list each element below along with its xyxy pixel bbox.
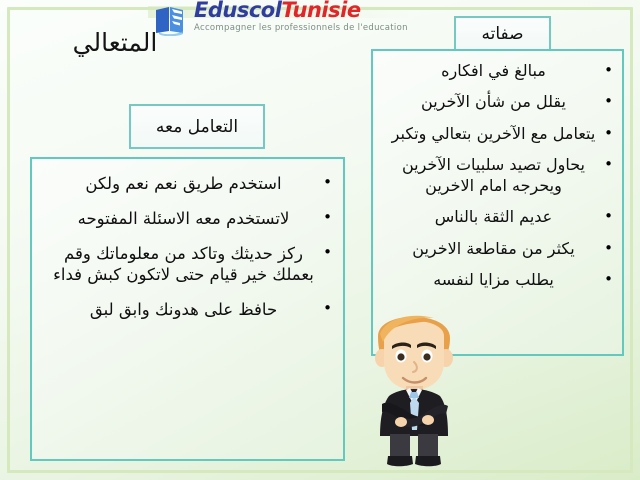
logo-word-eduscol: Eduscol bbox=[194, 0, 281, 22]
panel-header-dealing: التعامل معه bbox=[129, 104, 265, 149]
list-item: مبالغ في افكاره bbox=[377, 61, 618, 81]
logo-tagline: Accompagner les professionnels de l'educ… bbox=[194, 24, 408, 33]
list-item: يكثر من مقاطعة الاخرين bbox=[377, 239, 618, 259]
traits-list: مبالغ في افكاره يقلل من شأن الآخرين يتعا… bbox=[377, 61, 618, 291]
page-title: المتعالي bbox=[30, 28, 200, 57]
list-item: يحاول تصيد سلبيات الآخرين ويحرجه امام ال… bbox=[377, 155, 618, 196]
panel-header-traits: صفاته bbox=[454, 16, 551, 51]
list-item: عديم الثقة بالناس bbox=[377, 207, 618, 227]
list-item: يقلل من شأن الآخرين bbox=[377, 92, 618, 112]
logo-word-tunisie: Tunisie bbox=[281, 0, 360, 22]
slide-canvas: EduscolTunisie Accompagner les professio… bbox=[0, 0, 640, 480]
list-item: لاتستخدم معه الاسئلة المفتوحه bbox=[38, 208, 337, 229]
logo-wordmark: EduscolTunisie Accompagner les professio… bbox=[194, 0, 408, 33]
list-item: يتعامل مع الآخرين بتعالي وتكبر bbox=[377, 124, 618, 144]
list-item: ركز حديثك وتاكد من معلوماتك وقم بعملك خي… bbox=[38, 243, 337, 285]
cartoon-businessman-illustration bbox=[356, 296, 472, 468]
dealing-list: استخدم طريق نعم نعم ولكن لاتستخدم معه ال… bbox=[38, 173, 337, 321]
list-item: يطلب مزايا لنفسه bbox=[377, 270, 618, 290]
list-item: حافظ على هدونك وابق لبق bbox=[38, 299, 337, 320]
list-item: استخدم طريق نعم نعم ولكن bbox=[38, 173, 337, 194]
panel-body-dealing: استخدم طريق نعم نعم ولكن لاتستخدم معه ال… bbox=[30, 157, 345, 461]
